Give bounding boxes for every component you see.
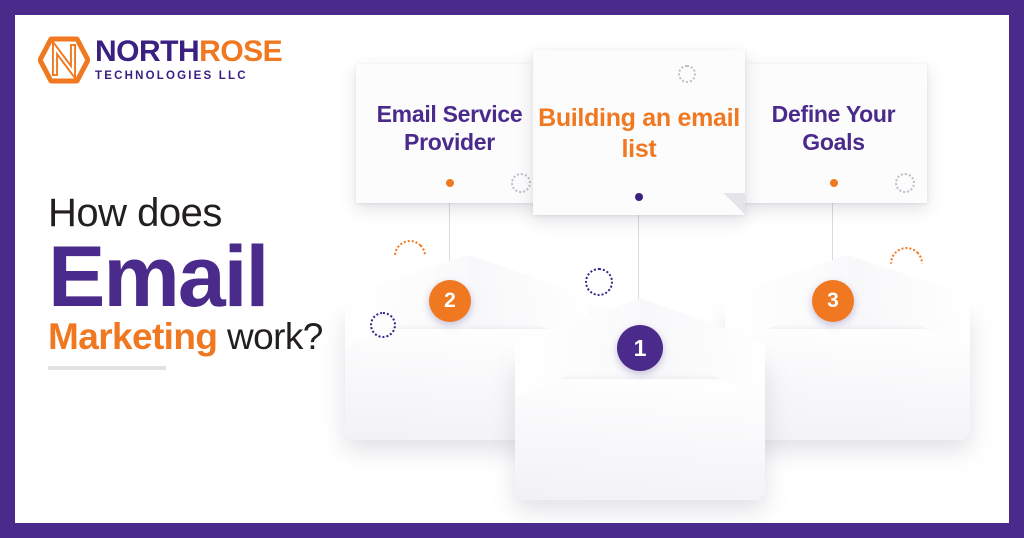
step-badge-3: 3 (812, 280, 854, 322)
step-card-2-dot (446, 179, 454, 187)
step-card-2-title: Email Service Provider (356, 100, 543, 156)
step-card-3-dot (830, 179, 838, 187)
step-card-3[interactable]: Define Your Goals (740, 64, 927, 203)
grey-dotted-ring-card-right (895, 173, 915, 193)
step-card-3-title: Define Your Goals (740, 100, 927, 156)
step-card-1-dot (635, 193, 643, 201)
step-badge-1: 1 (617, 325, 663, 371)
purple-dotted-ring-center (585, 268, 613, 296)
poster-canvas: NORTHROSE TECHNOLOGIES LLC How does Emai… (15, 15, 1009, 523)
envelope-front-panel (515, 379, 765, 500)
step-badge-3-number: 3 (827, 289, 839, 313)
step-card-1[interactable]: Building an email list (533, 50, 745, 215)
infographic-stage: 2 3 1 Email Service Provider Define Your… (15, 15, 1009, 523)
grey-dotted-ring-card-center (678, 65, 696, 83)
step-badge-2: 2 (429, 280, 471, 322)
grey-dotted-ring-card-left (511, 173, 531, 193)
poster-frame: NORTHROSE TECHNOLOGIES LLC How does Emai… (0, 0, 1024, 538)
step-card-1-title: Building an email list (533, 103, 745, 164)
step-badge-1-number: 1 (634, 335, 647, 362)
purple-dotted-ring-left (370, 312, 396, 338)
step-card-2[interactable]: Email Service Provider (356, 64, 543, 203)
card-folded-corner (723, 193, 745, 215)
step-badge-2-number: 2 (444, 289, 456, 313)
